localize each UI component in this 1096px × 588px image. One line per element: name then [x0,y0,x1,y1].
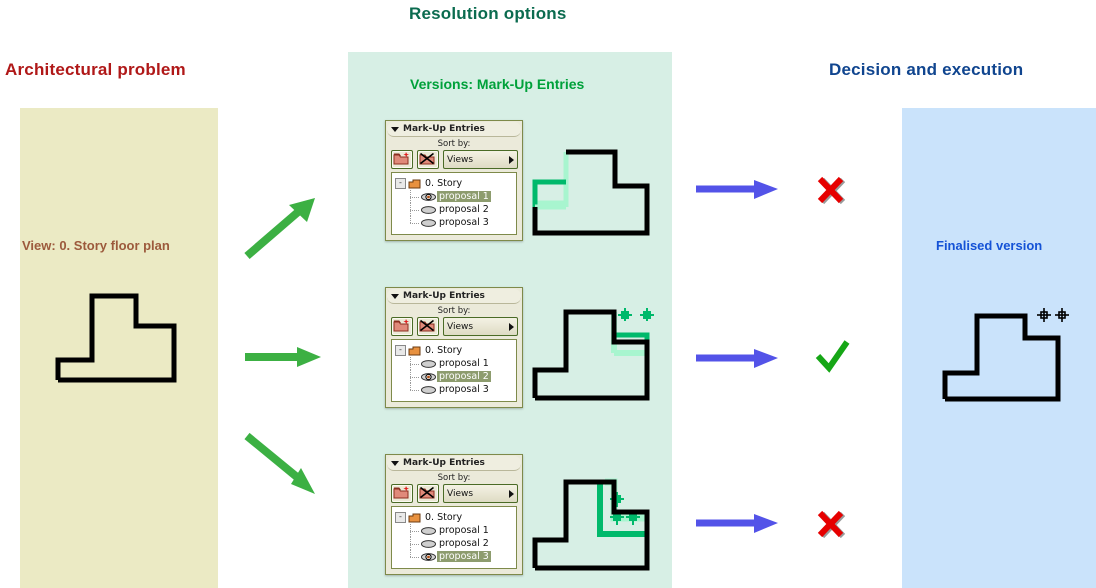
sort-by-combo-value: Views [447,322,473,332]
tree-root-label: 0. Story [423,512,464,523]
tree-root-label: 0. Story [423,178,464,189]
chevron-right-icon[interactable] [509,323,514,331]
tree-guide [409,524,421,537]
triangle-down-icon[interactable] [391,461,399,466]
green-arrow-right [243,344,325,370]
tree-guide [409,550,421,563]
eye-hidden-icon[interactable] [421,205,436,215]
markup-entries-tree[interactable]: - 0. Story proposal 1 proposal 2 [391,339,517,402]
sort-by-combo[interactable]: Views [443,317,518,336]
floor-plan-proposal-3 [530,465,670,580]
list-item-label: proposal 2 [437,204,491,215]
tree-root-story[interactable]: - 0. Story [395,344,513,357]
eye-visible-icon[interactable] [421,552,436,562]
eye-visible-icon[interactable] [421,372,436,382]
green-check-icon [813,338,853,374]
blue-arrow-right [694,178,780,202]
markup-entries-tree[interactable]: - 0. Story proposal 1 proposal 2 [391,506,517,569]
list-item[interactable]: proposal 2 [409,203,513,216]
label-view-floor-plan: View: 0. Story floor plan [22,238,170,253]
list-item[interactable]: proposal 3 [409,216,513,229]
palette-header[interactable]: Mark-Up Entries [387,122,521,137]
tree-root-label: 0. Story [423,345,464,356]
expander-icon[interactable]: - [395,178,406,189]
palette-title: Mark-Up Entries [403,456,485,470]
palette-title: Mark-Up Entries [403,289,485,303]
sort-by-label: Sort by: [386,138,522,150]
list-item[interactable]: proposal 1 [409,190,513,203]
list-item-label: proposal 1 [437,191,491,202]
delete-markup-entry-icon[interactable] [417,150,439,169]
list-item-label: proposal 3 [437,384,491,395]
list-item-label: proposal 3 [437,551,491,562]
new-markup-entry-icon[interactable] [391,484,413,503]
floor-plan-original [50,288,182,388]
story-floorplan-icon [408,513,421,523]
story-floorplan-icon [408,346,421,356]
chevron-right-icon[interactable] [509,156,514,164]
list-item[interactable]: proposal 2 [409,370,513,383]
sort-by-combo[interactable]: Views [443,150,518,169]
floor-plan-proposal-1 [530,140,670,245]
palette-header[interactable]: Mark-Up Entries [387,289,521,304]
tree-guide [409,537,421,550]
list-item[interactable]: proposal 2 [409,537,513,550]
label-finalised-version: Finalised version [936,238,1042,253]
eye-visible-icon[interactable] [421,192,436,202]
triangle-down-icon[interactable] [391,294,399,299]
expander-icon[interactable]: - [395,512,406,523]
list-item[interactable]: proposal 1 [409,357,513,370]
list-item-label: proposal 2 [437,538,491,549]
palette-toolbar[interactable]: Views [386,484,522,506]
label-versions-markup: Versions: Mark-Up Entries [410,76,584,92]
red-x-icon [813,172,849,208]
tree-root-story[interactable]: - 0. Story [395,177,513,190]
story-floorplan-icon [408,179,421,189]
sort-by-label: Sort by: [386,305,522,317]
tree-guide [409,203,421,216]
list-item[interactable]: proposal 3 [409,383,513,396]
list-item-label: proposal 2 [437,371,491,382]
list-item-label: proposal 1 [437,525,491,536]
tree-root-story[interactable]: - 0. Story [395,511,513,524]
eye-hidden-icon[interactable] [421,385,436,395]
list-item-label: proposal 1 [437,358,491,369]
palette-toolbar[interactable]: Views [386,150,522,172]
delete-markup-entry-icon[interactable] [417,484,439,503]
new-markup-entry-icon[interactable] [391,317,413,336]
sort-by-label: Sort by: [386,472,522,484]
page-title-decision-execution: Decision and execution [829,60,1023,80]
palette-toolbar[interactable]: Views [386,317,522,339]
eye-hidden-icon[interactable] [421,218,436,228]
green-arrow-down-right [243,430,319,498]
tree-guide [409,216,421,229]
tree-guide [409,190,421,203]
blue-arrow-right [694,512,780,536]
blue-arrow-right [694,347,780,371]
tree-guide [409,357,421,370]
tree-guide [409,383,421,396]
tree-guide [409,370,421,383]
triangle-down-icon[interactable] [391,127,399,132]
new-markup-entry-icon[interactable] [391,150,413,169]
palette-header[interactable]: Mark-Up Entries [387,456,521,471]
markup-entries-tree[interactable]: - 0. Story proposal 1 proposal 2 [391,172,517,235]
expander-icon[interactable]: - [395,345,406,356]
sort-by-combo[interactable]: Views [443,484,518,503]
palette-title: Mark-Up Entries [403,122,485,136]
list-item[interactable]: proposal 3 [409,550,513,563]
page-title-resolution-options: Resolution options [409,4,567,24]
list-item[interactable]: proposal 1 [409,524,513,537]
sort-by-combo-value: Views [447,155,473,165]
eye-hidden-icon[interactable] [421,539,436,549]
markup-entries-palette[interactable]: Mark-Up Entries Sort by: Views - 0. Stor… [385,454,523,575]
red-x-icon [813,506,849,542]
markup-entries-palette[interactable]: Mark-Up Entries Sort by: Views - 0. Stor… [385,287,523,408]
page-title-architectural-problem: Architectural problem [5,60,186,80]
chevron-right-icon[interactable] [509,490,514,498]
eye-hidden-icon[interactable] [421,526,436,536]
list-item-label: proposal 3 [437,217,491,228]
delete-markup-entry-icon[interactable] [417,317,439,336]
green-arrow-up-right [243,196,319,260]
sort-by-combo-value: Views [447,489,473,499]
floor-plan-proposal-2 [530,300,670,410]
markup-entries-palette[interactable]: Mark-Up Entries Sort by: Views - 0. Stor… [385,120,523,241]
floor-plan-finalised [930,295,1070,415]
eye-hidden-icon[interactable] [421,359,436,369]
